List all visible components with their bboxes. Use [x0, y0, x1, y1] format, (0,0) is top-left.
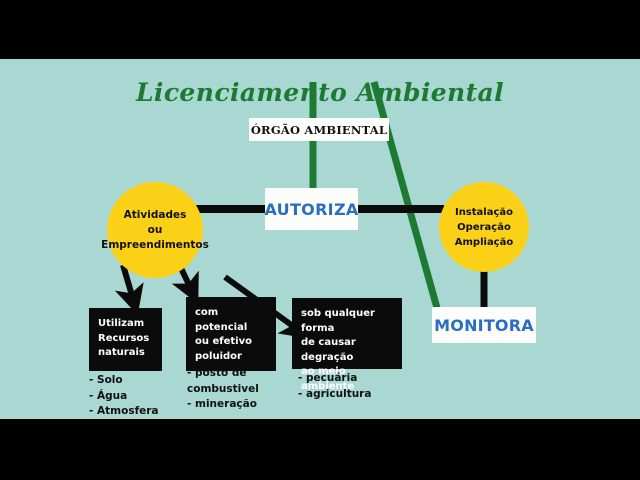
criterion-examples-2-item-2: combustivel [187, 382, 259, 398]
letterbox-bottom-bar [0, 419, 640, 480]
criterion-examples-1-item-1: - Solo [89, 373, 159, 389]
criterion-box-1-line-3: naturais [98, 346, 153, 361]
criterion-box-2-line-2: ou efetivo [195, 335, 267, 350]
criterion-examples-2: - posto de combustivel - mineração [187, 366, 259, 413]
letterbox-top-bar [0, 0, 640, 59]
criterion-box-2[interactable]: com potencial ou efetivo poluidor [186, 297, 276, 371]
node-instalacao-line-1: Instalação [455, 205, 513, 220]
node-monitora-label: MONITORA [434, 316, 534, 335]
node-atividades-line-1: Atividades [124, 208, 187, 223]
green-connector-orgao-to-monitora [374, 82, 437, 308]
node-autoriza-label: AUTORIZA [264, 200, 358, 219]
criterion-box-2-line-3: poluidor [195, 350, 267, 365]
criterion-examples-1-item-3: - Atmosfera [89, 404, 159, 419]
criterion-examples-3-item-1: - pecuária [298, 371, 371, 387]
criterion-examples-1: - Solo - Água - Atmosfera [89, 373, 159, 419]
node-autoriza[interactable]: AUTORIZA [265, 188, 358, 230]
node-orgao-ambiental-label: ÓRGÃO AMBIENTAL [251, 123, 387, 137]
page-title: Licenciamento Ambiental [0, 78, 640, 107]
node-orgao-ambiental[interactable]: ÓRGÃO AMBIENTAL [249, 118, 389, 141]
criterion-box-2-line-1: com potencial [195, 306, 267, 335]
criterion-examples-1-item-2: - Água [89, 389, 159, 405]
node-monitora[interactable]: MONITORA [432, 307, 536, 343]
criterion-box-3-line-1: sob qualquer forma [301, 307, 393, 336]
criterion-box-1[interactable]: Utilizam Recursos naturais [89, 308, 162, 371]
video-frame: Licenciamento Ambiental ÓRGÃO AMBIENTAL … [0, 0, 640, 480]
node-atividades-line-3: Empreendimentos [101, 238, 209, 253]
node-atividades-line-2: ou [148, 223, 163, 238]
node-atividades-empreendimentos[interactable]: Atividades ou Empreendimentos [107, 182, 203, 278]
node-instalacao-line-2: Operação [457, 220, 511, 235]
criterion-examples-2-item-3: - mineração [187, 397, 259, 413]
criterion-box-1-line-1: Utilizam [98, 317, 153, 332]
criterion-box-3[interactable]: sob qualquer forma de causar degração ao… [292, 298, 402, 369]
criterion-examples-3: - pecuária - agricultura [298, 371, 371, 402]
criterion-examples-3-item-2: - agricultura [298, 387, 371, 403]
diagram-canvas: Licenciamento Ambiental ÓRGÃO AMBIENTAL … [0, 59, 640, 419]
criterion-examples-2-item-1: - posto de [187, 366, 259, 382]
criterion-box-3-line-2: de causar degração [301, 336, 393, 365]
criterion-box-1-line-2: Recursos [98, 332, 153, 347]
node-instalacao-operacao-ampliacao[interactable]: Instalação Operação Ampliação [439, 182, 529, 272]
node-instalacao-line-3: Ampliação [455, 235, 513, 250]
